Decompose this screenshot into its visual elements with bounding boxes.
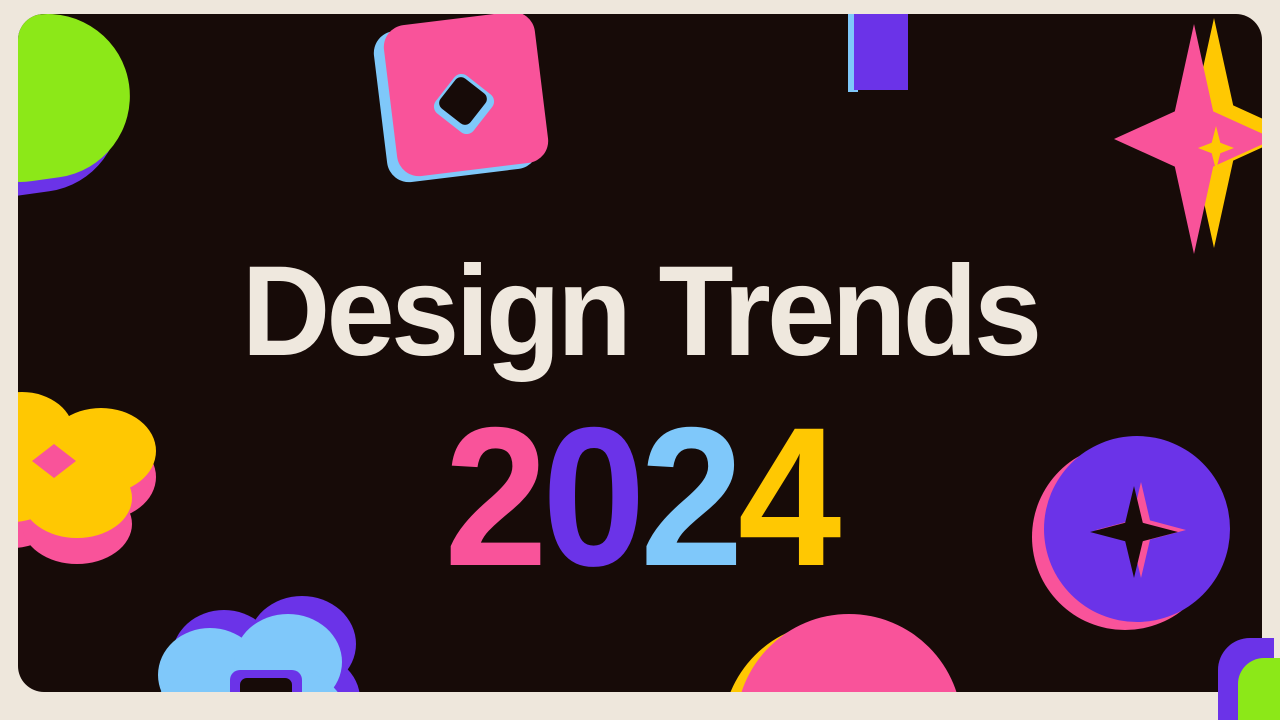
sliver-green bbox=[1238, 658, 1280, 720]
bar-body-purple bbox=[854, 14, 908, 90]
poster-dark-panel bbox=[18, 14, 1262, 692]
flower-yellow-icon bbox=[18, 386, 190, 546]
poster-canvas: Design Trends 2024 bbox=[0, 0, 1280, 720]
star-body-pink bbox=[1114, 24, 1262, 254]
corner-sliver-purple-green-icon bbox=[1218, 638, 1278, 718]
pacman-body bbox=[18, 14, 140, 193]
circle-purple-star-cutout-icon bbox=[1032, 436, 1242, 632]
flower-blue-center-slot bbox=[240, 678, 292, 692]
circle-pink-square-cutout-icon bbox=[722, 614, 972, 692]
pacman-shape-green-icon bbox=[18, 14, 134, 184]
rounded-square-pink-icon bbox=[380, 18, 550, 188]
four-point-star-pink-icon bbox=[1098, 18, 1262, 268]
circle-b-body-pink bbox=[736, 614, 962, 692]
hanging-bar-purple-icon bbox=[848, 14, 908, 92]
flower-blue-icon bbox=[150, 604, 400, 692]
